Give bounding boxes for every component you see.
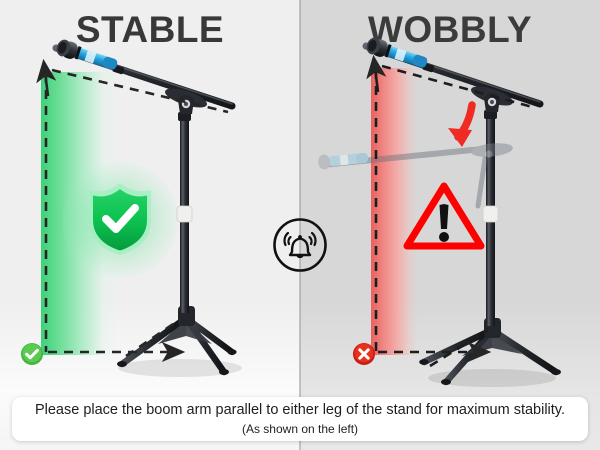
shield-check-icon	[85, 180, 155, 258]
height-clutch-stable	[177, 206, 192, 222]
wobble-direction-arrow	[448, 105, 472, 147]
x-circle-icon	[352, 342, 376, 366]
microphone-stable	[55, 38, 120, 73]
caption-main-text: Please place the boom arm parallel to ei…	[35, 401, 565, 420]
illustration-stage: STABLE WOBBLY	[0, 0, 600, 450]
instruction-caption: Please place the boom arm parallel to ei…	[12, 397, 588, 441]
alert-bell-icon	[272, 217, 328, 273]
caption-sub-text: (As shown on the left)	[242, 421, 358, 437]
check-circle-icon	[20, 342, 44, 366]
warning-triangle-icon	[402, 180, 486, 252]
